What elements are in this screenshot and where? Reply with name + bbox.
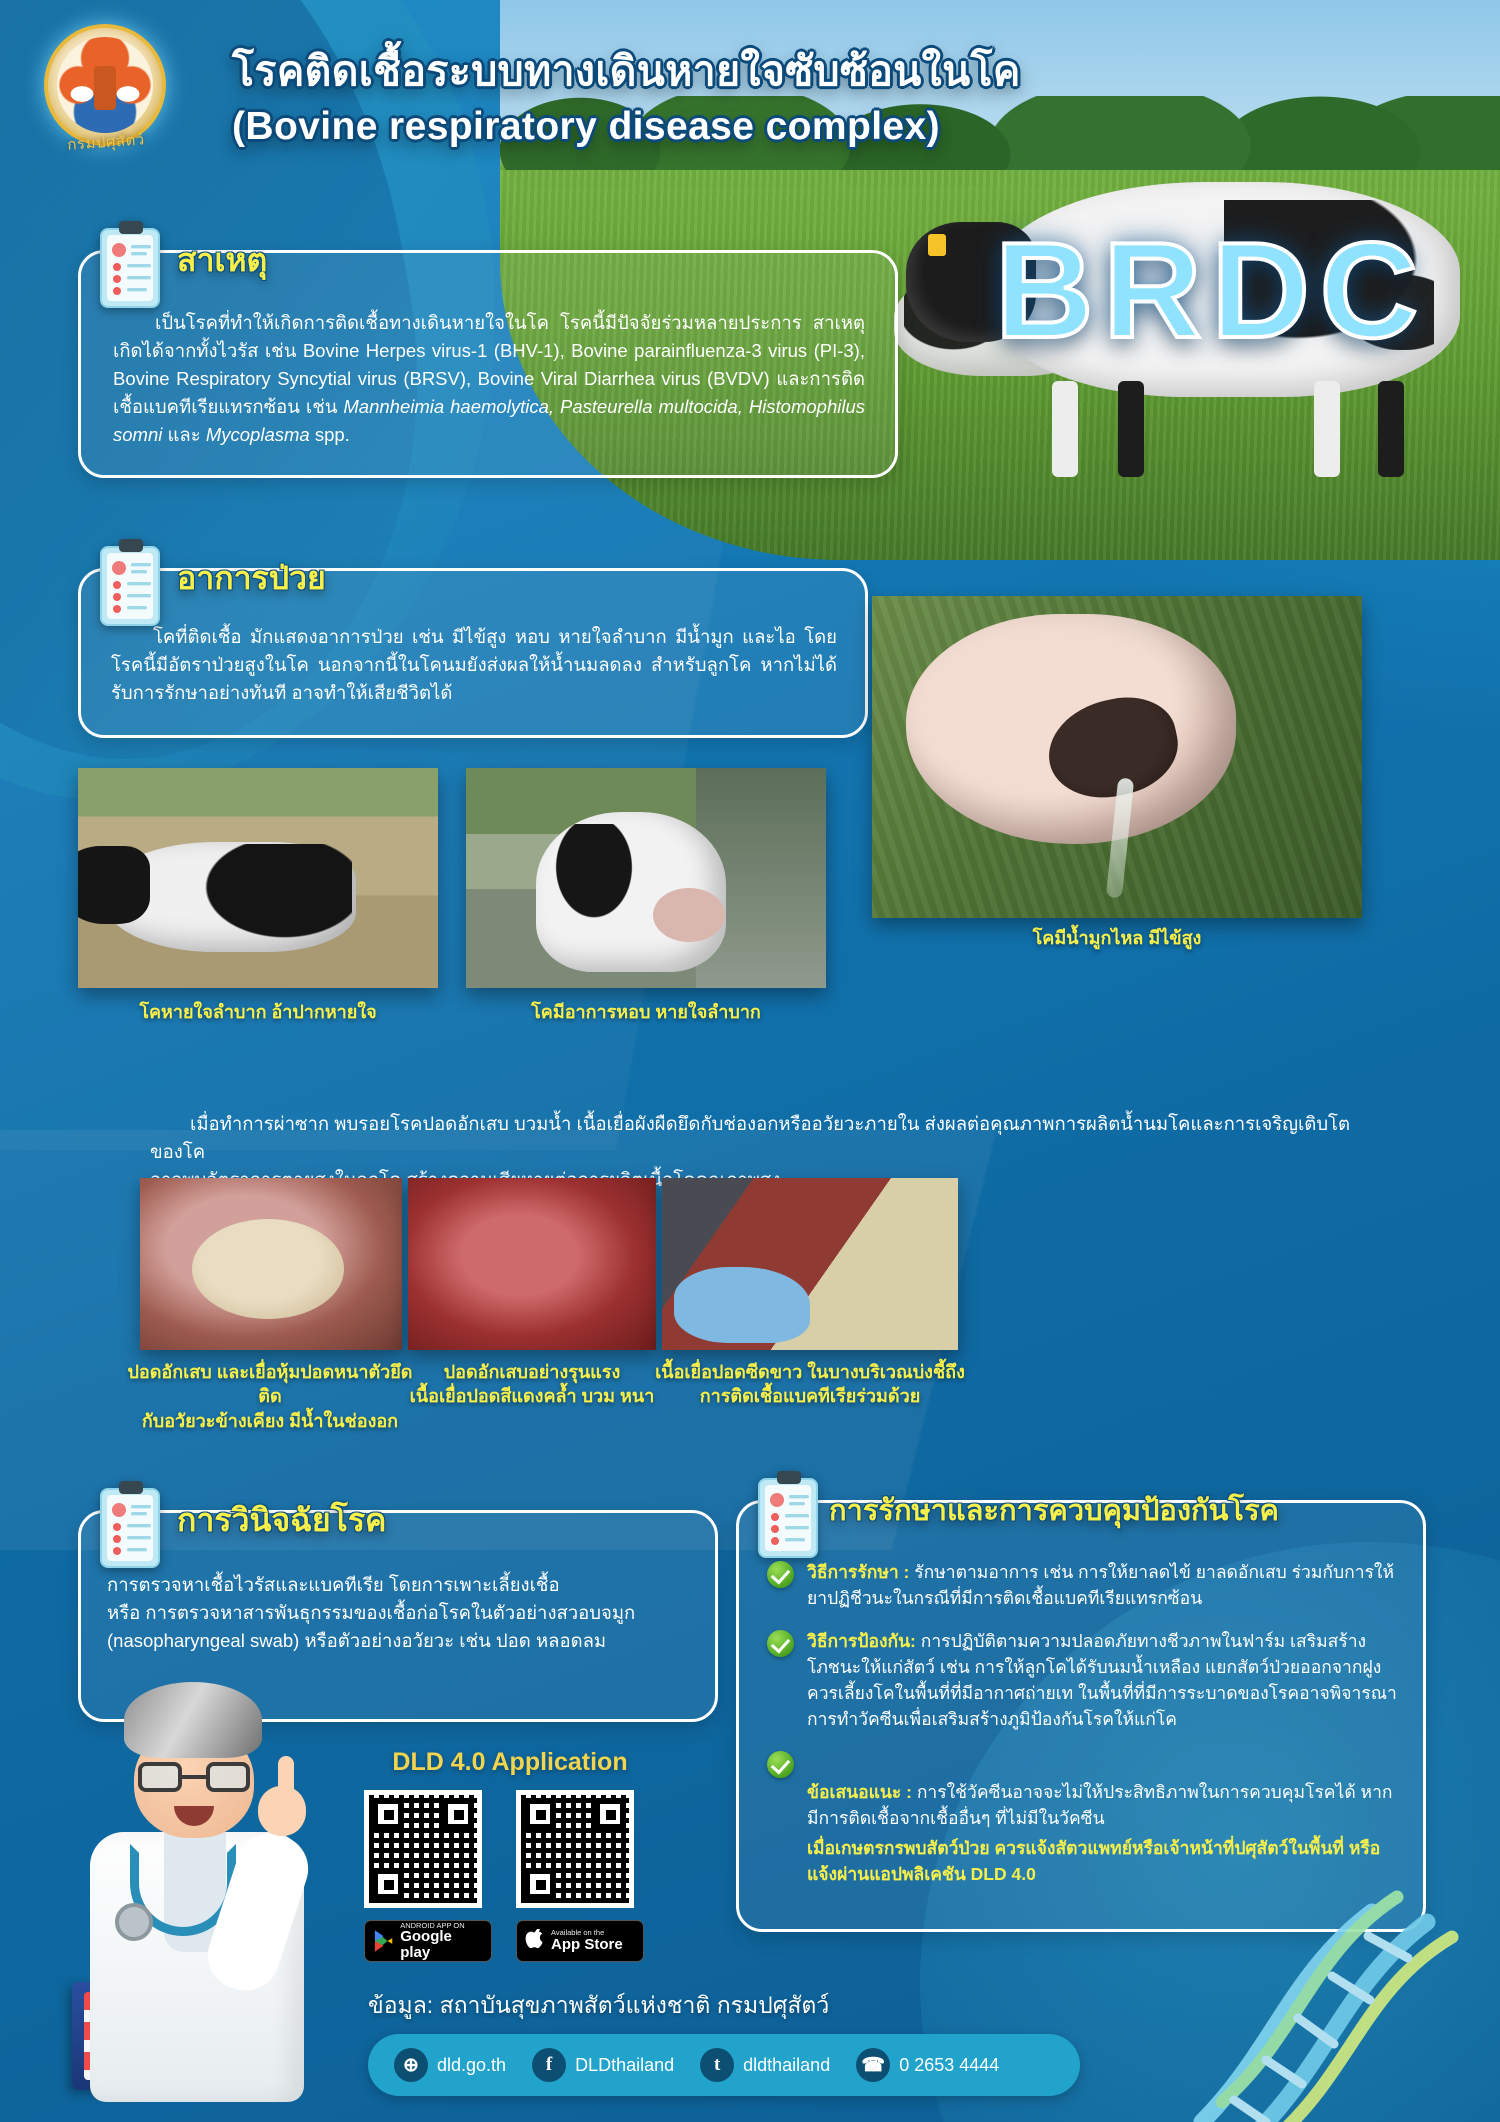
caption-pale-lung-tissue: เนื้อเยื่อปอดซีดขาว ในบางบริเวณบ่งชี้ถึง… xyxy=(640,1360,980,1409)
contact-tiktok[interactable]: t dldthailand xyxy=(700,2048,830,2082)
emblem-horses xyxy=(69,81,142,107)
qr-code-app-store[interactable] xyxy=(516,1790,634,1908)
photo-cow-panting xyxy=(466,768,826,988)
app-store-text: Available on the App Store xyxy=(551,1929,623,1952)
contact-bar: ⊕ dld.go.th f DLDthailand t dldthailand … xyxy=(368,2034,1080,2096)
caption-cow-panting: โคมีอาการหอบ หายใจลำบาก xyxy=(466,1000,826,1024)
caption-severe-pneumonia: ปอดอักเสบอย่างรุนแรง เนื้อเยื่อปอดสีแดงค… xyxy=(396,1360,668,1409)
dna-decoration xyxy=(1162,1802,1492,2122)
tiktok-icon: t xyxy=(700,2048,734,2082)
caption-calf-breathing: โคหายใจลำบาก อ้าปากหายใจ xyxy=(78,1000,438,1024)
qr-eye xyxy=(372,1868,404,1900)
globe-icon: ⊕ xyxy=(394,2048,428,2082)
cow-leg xyxy=(1118,381,1144,477)
lens-right xyxy=(206,1762,250,1792)
caption-line-1: ปอดอักเสบอย่างรุนแรง xyxy=(396,1360,668,1384)
caption-line-2: การติดเชื้อแบคทีเรียร่วมด้วย xyxy=(640,1384,980,1408)
facebook-icon: f xyxy=(532,2048,566,2082)
check-icon xyxy=(767,1630,794,1657)
app-section-title: DLD 4.0 Application xyxy=(360,1748,660,1777)
contact-phone[interactable]: ☎ 0 2653 4444 xyxy=(856,2048,999,2082)
photo-severe-pneumonia xyxy=(408,1178,656,1350)
photo-nasal-discharge xyxy=(872,596,1362,918)
contact-facebook-text: DLDthailand xyxy=(575,2055,674,2076)
caption-line-1: เนื้อเยื่อปอดซีดขาว ในบางบริเวณบ่งชี้ถึง xyxy=(640,1360,980,1384)
google-play-sub: ANDROID APP ON xyxy=(400,1922,483,1930)
app-store-sub: Available on the xyxy=(551,1929,623,1937)
qr-eye xyxy=(524,1868,556,1900)
qr-eye xyxy=(594,1798,626,1830)
calf-body xyxy=(106,842,356,952)
eyeglasses-icon xyxy=(138,1762,250,1792)
caption-line-2: เนื้อเยื่อปอดสีแดงคล้ำ บวม หนา xyxy=(396,1384,668,1408)
treatment-item-text: วิธีการป้องกัน: การปฏิบัติตามความปลอดภัย… xyxy=(807,1628,1399,1733)
cause-paragraph: เป็นโรคที่ทำให้เกิดการติดเชื้อทางเดินหาย… xyxy=(113,309,865,450)
veterinarian-mascot xyxy=(72,1682,322,2102)
caption-line-2: กับอวัยวะข้างเคียง มีน้ำในช่องอก xyxy=(120,1409,420,1433)
cow-leg xyxy=(1052,381,1078,477)
gloved-hand xyxy=(674,1267,810,1343)
poster-title-block: โรคติดเชื้อระบบทางเดินหายใจซับซ้อนในโค (… xyxy=(232,44,1172,153)
cause-bacteria-list-2: Mycoplasma xyxy=(206,424,310,445)
photo-bg xyxy=(408,1178,656,1350)
treatment-item-prevention: วิธีการป้องกัน: การปฏิบัติตามความปลอดภัย… xyxy=(765,1628,1399,1733)
contact-phone-text: 0 2653 4444 xyxy=(899,2055,999,2076)
qr-eye xyxy=(524,1798,556,1830)
brdc-watermark: BRDC xyxy=(995,212,1428,368)
qr-code-google-play[interactable] xyxy=(364,1790,482,1908)
bridge xyxy=(182,1775,206,1779)
mascot-pointing-finger xyxy=(278,1756,294,1800)
lung-lesion xyxy=(192,1219,344,1319)
qr-eye xyxy=(372,1798,404,1830)
clipboard-icon xyxy=(95,219,169,311)
emblem-inner xyxy=(57,37,153,133)
diagnosis-line-1: การตรวจหาเชื้อไวรัสและแบคทีเรีย โดยการเพ… xyxy=(107,1571,691,1599)
check-icon xyxy=(767,1561,794,1588)
mascot-hair xyxy=(124,1682,262,1758)
cause-title: สาเหตุ xyxy=(177,235,267,286)
contact-facebook[interactable]: f DLDthailand xyxy=(532,2048,674,2082)
qr-eye xyxy=(442,1798,474,1830)
cause-spp: spp. xyxy=(310,424,350,445)
clipboard-icon xyxy=(95,537,169,629)
cow-leg xyxy=(1378,381,1404,477)
treatment-item-method: วิธีการรักษา : รักษาตามอาการ เช่น การให้… xyxy=(765,1559,1399,1612)
caption-nasal-discharge: โคมีน้ำมูกไหล มีไข้สูง xyxy=(872,926,1362,950)
cow-leg xyxy=(1314,381,1340,477)
diagnosis-line-3: (nasopharyngeal swab) หรือตัวอย่างอวัยวะ… xyxy=(107,1627,691,1655)
logo-caption: กรมปศุสัตว์ xyxy=(39,125,172,158)
cause-card: สาเหตุ เป็นโรคที่ทำให้เกิดการติดเชื้อทาง… xyxy=(78,250,898,478)
treatment-title: การรักษาและการควบคุมป้องกันโรค xyxy=(829,1487,1279,1533)
diagnosis-title: การวินิจฉัยโรค xyxy=(177,1495,386,1546)
phone-icon: ☎ xyxy=(856,2048,890,2082)
contact-website-text: dld.go.th xyxy=(437,2055,506,2076)
apple-icon xyxy=(525,1929,545,1953)
treatment-item-lead: ข้อเสนอแนะ : xyxy=(807,1782,912,1802)
treatment-item-lead: วิธีการป้องกัน: xyxy=(807,1631,916,1651)
caption-lung-pleuritis: ปอดอักเสบ และเยื่อหุ้มปอดหนาตัวยึดติด กั… xyxy=(120,1360,420,1433)
clipboard-icon xyxy=(753,1469,827,1561)
source-line: ข้อมูล: สถาบันสุขภาพสัตว์แห่งชาติ กรมปศุ… xyxy=(368,1988,829,2024)
google-play-text: ANDROID APP ON Google play xyxy=(400,1922,483,1961)
cause-conjunction: และ xyxy=(162,424,205,445)
google-play-badge[interactable]: ANDROID APP ON Google play xyxy=(364,1920,492,1962)
symptom-paragraph: โคที่ติดเชื้อ มักแสดงอาการป่วย เช่น มีไข… xyxy=(111,623,837,707)
photo-calf-breathing xyxy=(78,768,438,988)
symptom-card: อาการป่วย โคที่ติดเชื้อ มักแสดงอาการป่วย… xyxy=(78,568,868,738)
google-play-main: Google play xyxy=(400,1929,483,1961)
symptom-title: อาการป่วย xyxy=(177,553,326,604)
page-title-english: (Bovine respiratory disease complex) xyxy=(232,100,1172,153)
clipboard-icon xyxy=(95,1479,169,1571)
poster-root: กรมปศุสัตว์ โรคติดเชื้อระบบทางเดินหายใจซ… xyxy=(0,0,1500,2122)
caption-line-1: ปอดอักเสบ และเยื่อหุ้มปอดหนาตัวยึดติด xyxy=(120,1360,420,1409)
necropsy-paragraph-line-1: เมื่อทำการผ่าซาก พบรอยโรคปอดอักเสบ บวมน้… xyxy=(150,1110,1350,1166)
contact-website[interactable]: ⊕ dld.go.th xyxy=(394,2048,506,2082)
treatment-item-lead: วิธีการรักษา : xyxy=(807,1562,909,1582)
page-title-thai: โรคติดเชื้อระบบทางเดินหายใจซับซ้อนในโค xyxy=(232,44,1172,100)
google-play-icon xyxy=(373,1929,394,1953)
photo-pale-lung-tissue xyxy=(662,1178,958,1350)
cow-ear-tag xyxy=(928,234,946,256)
app-store-main: App Store xyxy=(551,1937,623,1953)
lens-left xyxy=(138,1762,182,1792)
check-icon xyxy=(767,1751,794,1778)
diagnosis-line-2: หรือ การตรวจหาสารพันธุกรรมของเชื้อก่อโรค… xyxy=(107,1599,691,1627)
app-store-badge[interactable]: Available on the App Store xyxy=(516,1920,644,1962)
treatment-item-text: วิธีการรักษา : รักษาตามอาการ เช่น การให้… xyxy=(807,1559,1399,1612)
contact-tiktok-text: dldthailand xyxy=(743,2055,830,2076)
cow-muzzle xyxy=(653,888,725,942)
photo-lung-pleuritis xyxy=(140,1178,402,1350)
